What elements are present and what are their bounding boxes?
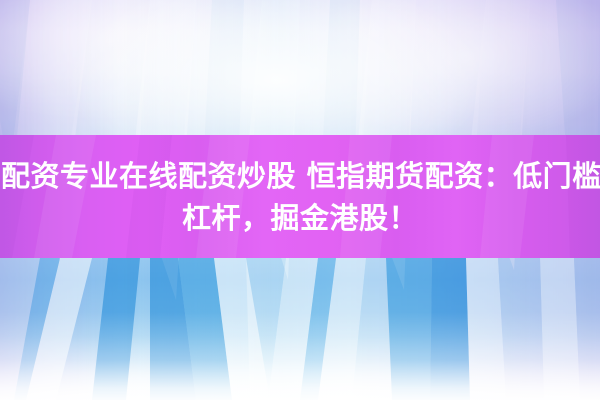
headline-line-1: 配资专业在线配资炒股 恒指期货配资：低门槛，高 (0, 155, 600, 197)
headline-band: 配资专业在线配资炒股 恒指期货配资：低门槛，高 杠杆，掘金港股！ (0, 135, 600, 258)
banner-image: 配资专业在线配资炒股 恒指期货配资：低门槛，高 杠杆，掘金港股！ (0, 0, 600, 400)
headline-line-2: 杠杆，掘金港股！ (0, 197, 600, 239)
